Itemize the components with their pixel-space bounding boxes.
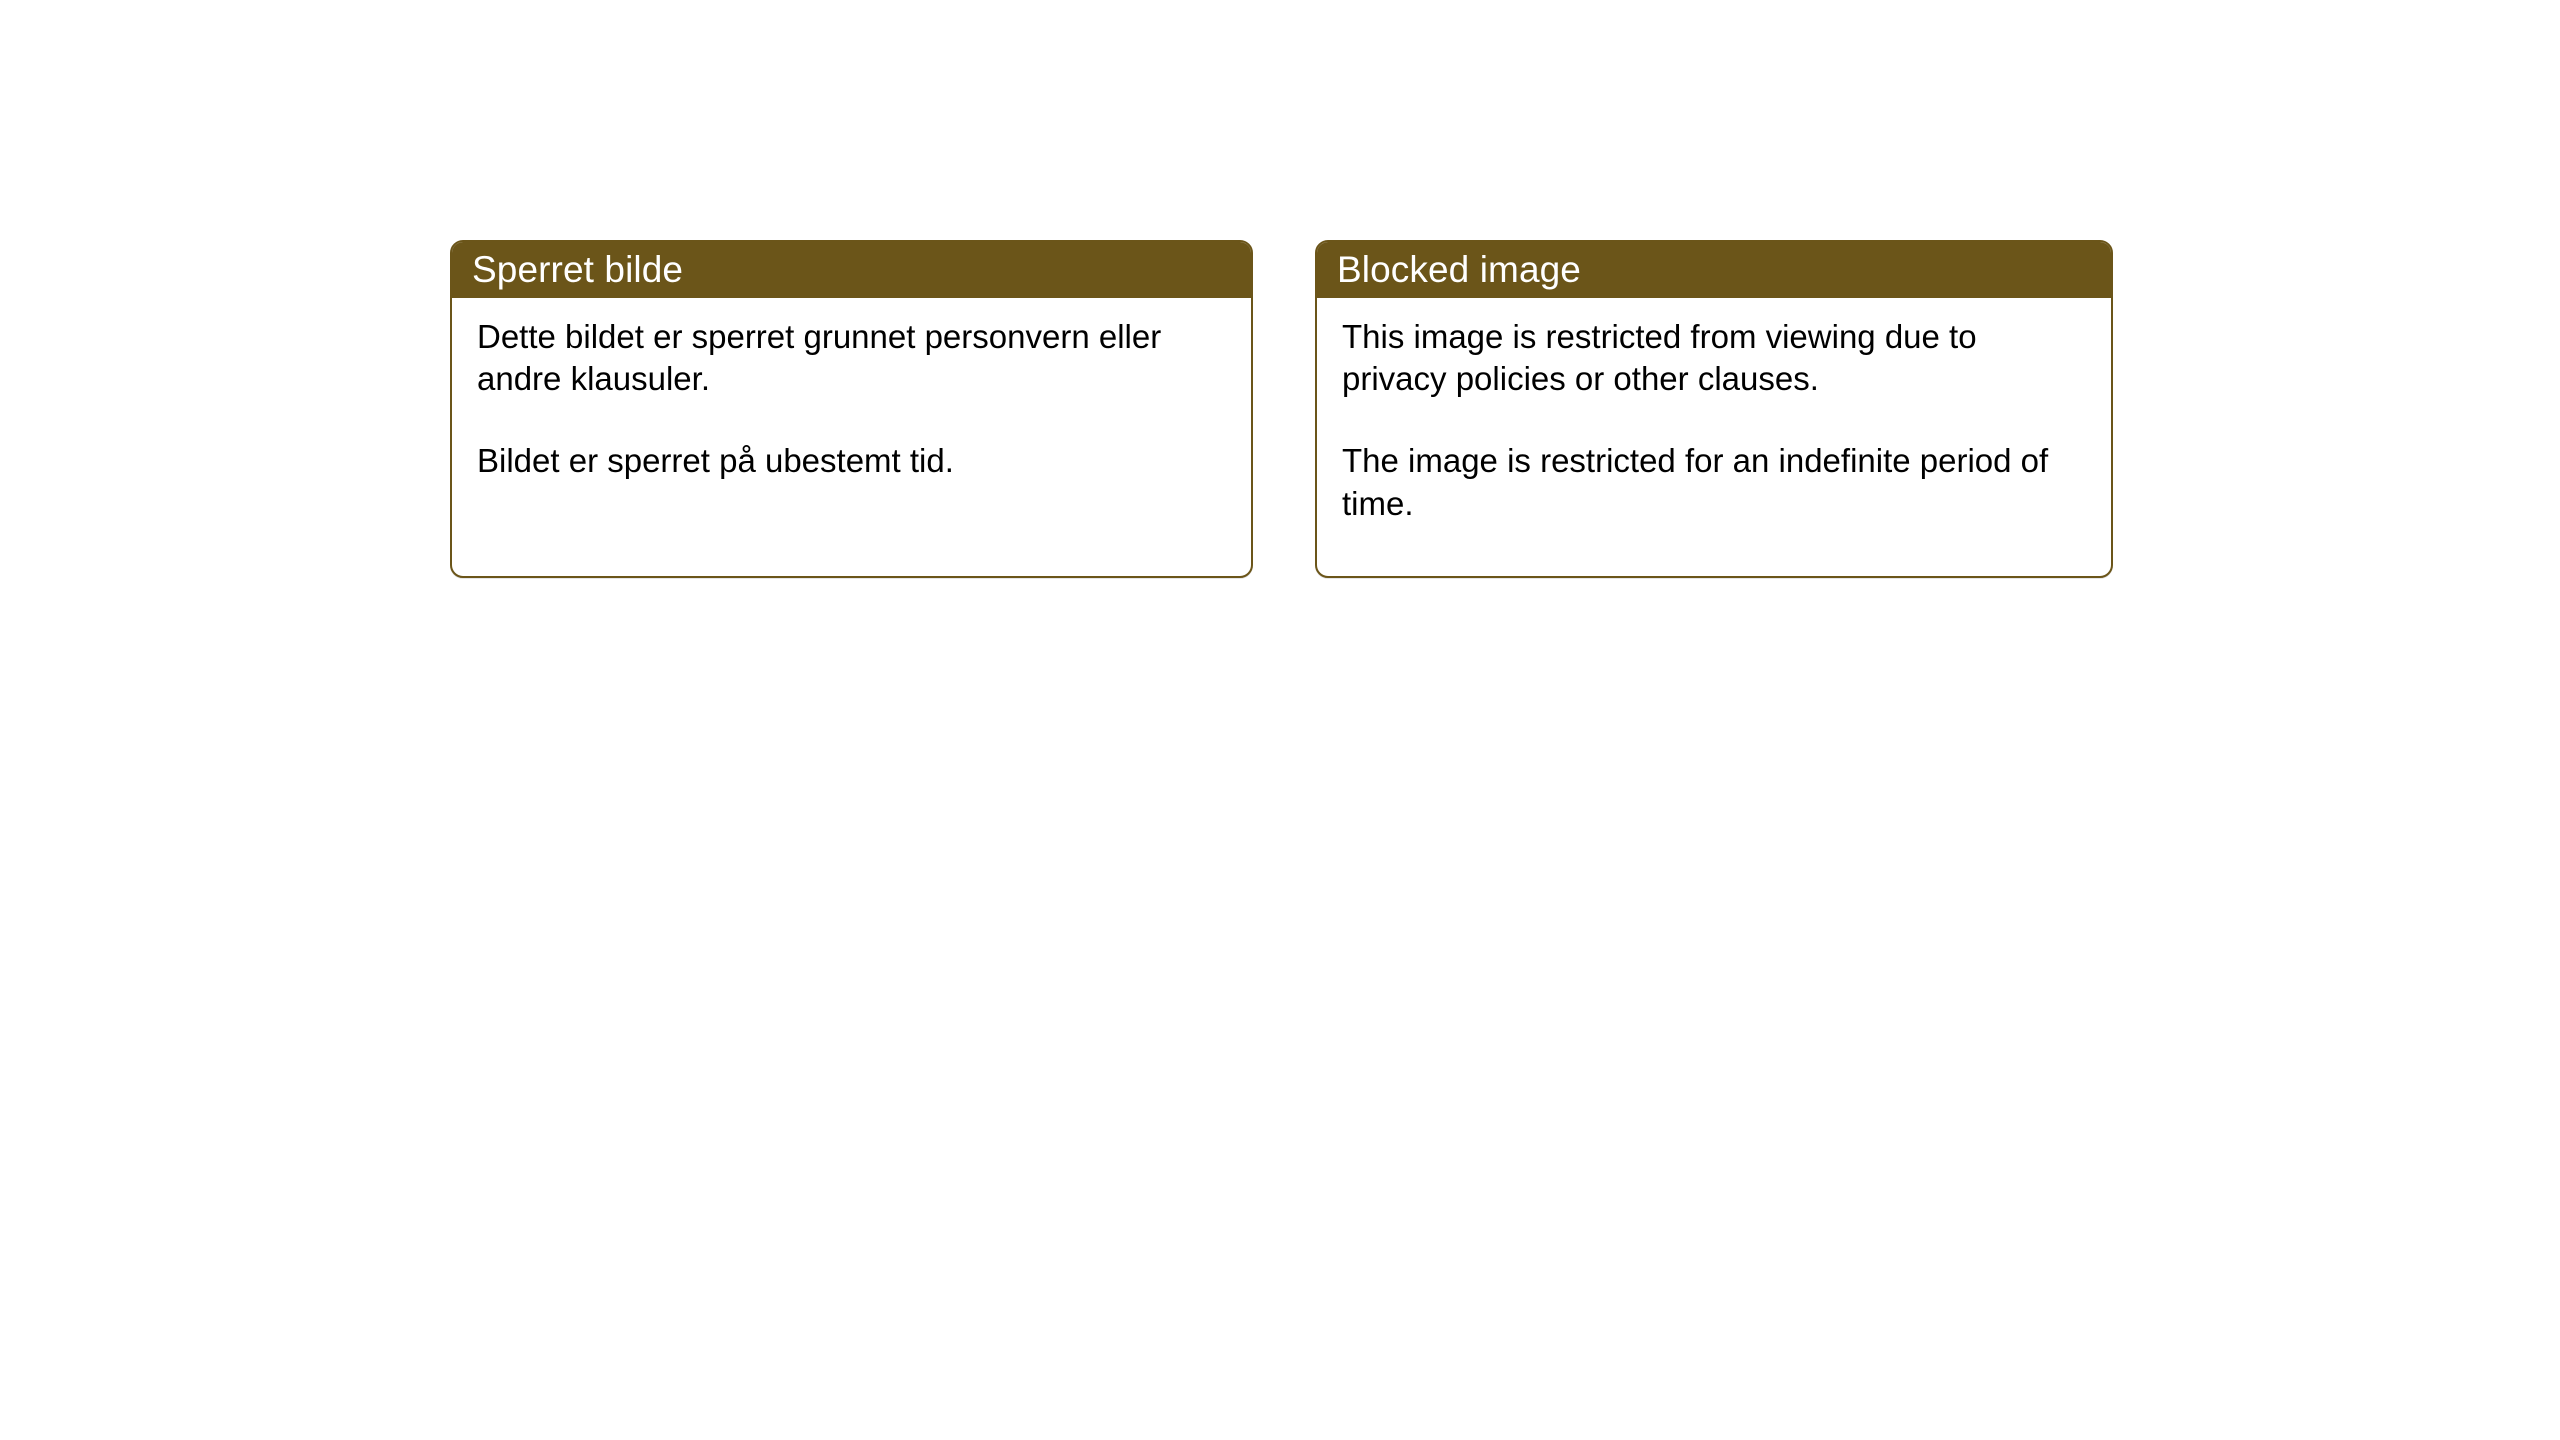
panel-title-en: Blocked image xyxy=(1337,251,1581,288)
blocked-image-panel-no: Sperret bilde Dette bildet er sperret gr… xyxy=(450,240,1253,578)
panel-title-no: Sperret bilde xyxy=(472,251,683,288)
panel-paragraph-en-2: The image is restricted for an indefinit… xyxy=(1342,440,2087,524)
panel-paragraph-en-1: This image is restricted from viewing du… xyxy=(1342,316,2087,400)
panel-body-no: Dette bildet er sperret grunnet personve… xyxy=(452,298,1251,503)
panel-header-en: Blocked image xyxy=(1315,240,2113,298)
panel-header-no: Sperret bilde xyxy=(450,240,1253,298)
blocked-image-panel-en: Blocked image This image is restricted f… xyxy=(1315,240,2113,578)
blocked-image-notice-group: Sperret bilde Dette bildet er sperret gr… xyxy=(450,240,2113,578)
panel-paragraph-no-1: Dette bildet er sperret grunnet personve… xyxy=(477,316,1227,400)
panel-body-en: This image is restricted from viewing du… xyxy=(1317,298,2111,545)
page-root: Sperret bilde Dette bildet er sperret gr… xyxy=(0,0,2560,1440)
panel-paragraph-no-2: Bildet er sperret på ubestemt tid. xyxy=(477,440,1227,482)
